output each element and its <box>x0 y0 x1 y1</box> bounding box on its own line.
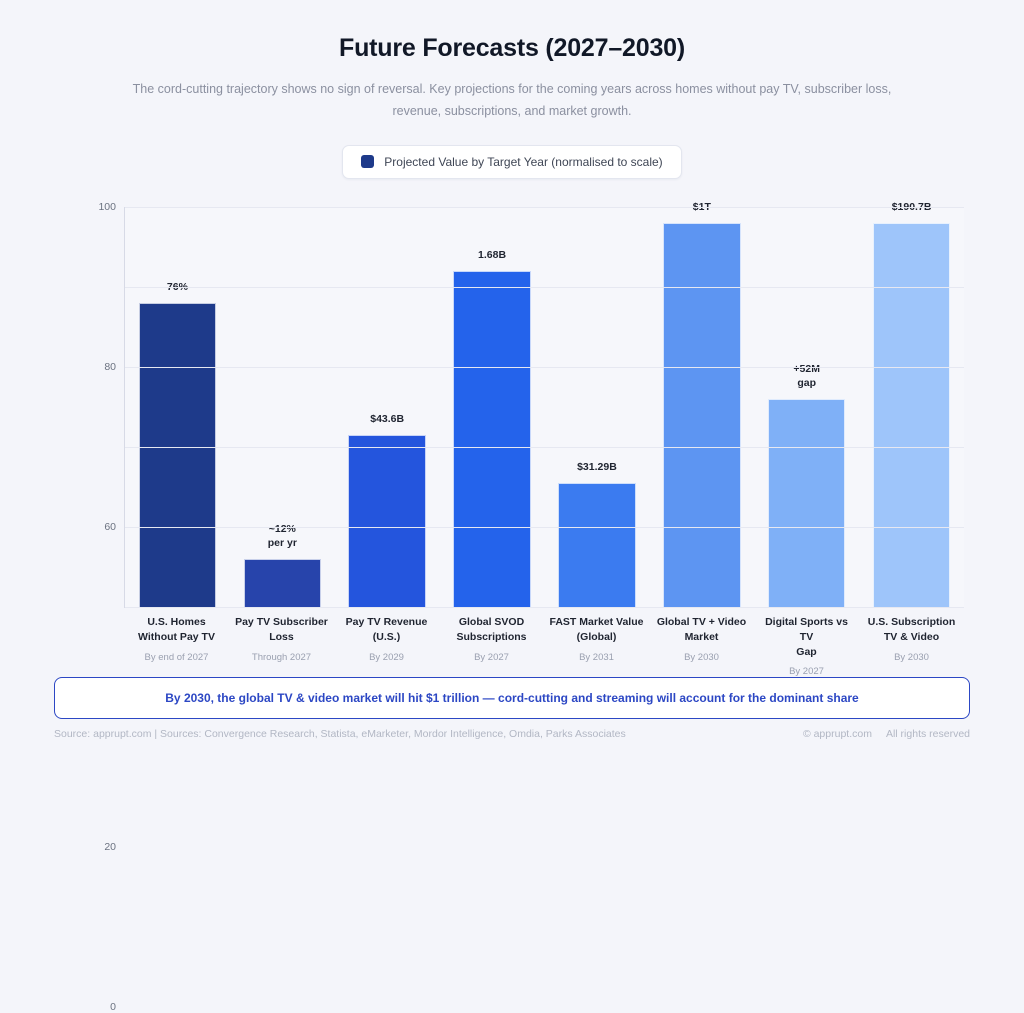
y-axis-tick: 60 <box>104 521 116 533</box>
bar[interactable] <box>244 559 322 607</box>
bar-slot: ~12%per yr <box>230 207 335 607</box>
legend-swatch-icon <box>361 155 374 168</box>
plot-grid: 76%~12%per yr$43.6B1.68B$31.29B$1T+52Mga… <box>124 207 964 608</box>
bar[interactable] <box>348 435 426 607</box>
bar-value-line: $31.29B <box>524 461 671 475</box>
y-gridline: 0 <box>125 607 964 608</box>
bar-value-line: $1T <box>628 201 775 215</box>
bar[interactable] <box>558 483 636 607</box>
y-gridline: 80 <box>125 287 964 288</box>
bar-value-label: 76% <box>104 281 251 295</box>
y-axis-tick: 20 <box>104 841 116 853</box>
bar-value-label: $1T <box>628 201 775 215</box>
x-axis-label-line: Global TV + Video <box>652 615 751 630</box>
x-axis-label-line: TV & Video <box>862 630 961 645</box>
x-axis-label-line: (U.S.) <box>337 630 436 645</box>
bar-value-label: $31.29B <box>524 461 671 475</box>
y-gridline: 100 <box>125 207 964 208</box>
bar-value-line: $190.7B <box>838 201 985 215</box>
bar-value-line: $43.6B <box>314 413 461 427</box>
x-axis-label: U.S. HomesWithout Pay TVBy end of 2027 <box>124 615 229 679</box>
x-axis-label-line: Loss <box>232 630 331 645</box>
x-axis-label-line: Gap <box>757 645 856 660</box>
bar-slot: $31.29B <box>545 207 650 607</box>
x-axis-label: Global TV + VideoMarketBy 2030 <box>649 615 754 679</box>
bar[interactable] <box>663 223 741 607</box>
x-axis-sublabel: By 2030 <box>862 652 961 664</box>
bar[interactable] <box>768 399 846 607</box>
x-axis-label-main: U.S. SubscriptionTV & Video <box>862 615 961 645</box>
bar-value-line: per yr <box>209 537 356 551</box>
chart-legend: Projected Value by Target Year (normalis… <box>0 145 1024 179</box>
y-axis-tick: 80 <box>104 361 116 373</box>
x-axis-label: Digital Sports vs TVGapBy 2027 <box>754 615 859 679</box>
bar-slot: 1.68B <box>440 207 545 607</box>
forecast-chart-page: Future Forecasts (2027–2030) The cord-cu… <box>0 0 1024 801</box>
x-axis-label-main: Global SVODSubscriptions <box>442 615 541 645</box>
x-axis-label-line: (Global) <box>547 630 646 645</box>
x-axis-label-line: Without Pay TV <box>127 630 226 645</box>
bar-slot: $43.6B <box>335 207 440 607</box>
plot-area: Projected Value (Normalised Scale 0–100)… <box>52 199 972 679</box>
bar-value-line: +52M <box>733 363 880 377</box>
x-axis-label-line: Subscriptions <box>442 630 541 645</box>
legend-label: Projected Value by Target Year (normalis… <box>384 155 662 169</box>
x-axis-sublabel: By 2030 <box>652 652 751 664</box>
x-axis-label: U.S. SubscriptionTV & VideoBy 2030 <box>859 615 964 679</box>
x-axis-sublabel: By end of 2027 <box>127 652 226 664</box>
callout-banner: By 2030, the global TV & video market wi… <box>54 677 970 719</box>
x-axis-sublabel: Through 2027 <box>232 652 331 664</box>
x-axis-label-line: Digital Sports vs TV <box>757 615 856 645</box>
x-axis-label-main: Pay TV Revenue(U.S.) <box>337 615 436 645</box>
x-axis-label-line: FAST Market Value <box>547 615 646 630</box>
bar-value-label: $43.6B <box>314 413 461 427</box>
y-axis-tick: 0 <box>110 1001 116 1013</box>
x-axis-sublabel: By 2029 <box>337 652 436 664</box>
x-axis-label-line: U.S. Homes <box>127 615 226 630</box>
bar-value-line: 76% <box>104 281 251 295</box>
bar-group: 76%~12%per yr$43.6B1.68B$31.29B$1T+52Mga… <box>125 207 964 607</box>
bar-value-line: gap <box>733 377 880 391</box>
bar[interactable] <box>139 303 217 607</box>
footer-source: Source: apprupt.com | Sources: Convergen… <box>54 728 626 740</box>
bar-value-line: ~12% <box>209 523 356 537</box>
bar[interactable] <box>453 271 531 607</box>
bar[interactable] <box>873 223 951 607</box>
y-axis-tick: 100 <box>98 201 116 213</box>
x-axis-label-line: Global SVOD <box>442 615 541 630</box>
page-footer: Source: apprupt.com | Sources: Convergen… <box>54 728 970 740</box>
x-axis-label-line: Market <box>652 630 751 645</box>
page-title: Future Forecasts (2027–2030) <box>100 34 924 63</box>
x-axis-sublabel: By 2031 <box>547 652 646 664</box>
bar-slot: $1T <box>649 207 754 607</box>
y-gridline: 40 <box>125 447 964 448</box>
footer-all-rights: All rights reserved <box>886 728 970 740</box>
footer-copyright: © apprupt.com <box>803 728 872 740</box>
footer-rights: © apprupt.com All rights reserved <box>803 728 970 740</box>
chart-subtitle: The cord-cutting trajectory shows no sig… <box>117 79 907 123</box>
legend-item[interactable]: Projected Value by Target Year (normalis… <box>342 145 681 179</box>
x-axis-label: Pay TV Revenue(U.S.)By 2029 <box>334 615 439 679</box>
x-axis-label-main: U.S. HomesWithout Pay TV <box>127 615 226 645</box>
x-axis-label: FAST Market Value(Global)By 2031 <box>544 615 649 679</box>
bar-slot: $190.7B <box>859 207 964 607</box>
x-axis-label: Global SVODSubscriptionsBy 2027 <box>439 615 544 679</box>
x-axis-sublabel: By 2027 <box>442 652 541 664</box>
x-axis-label-main: Pay TV SubscriberLoss <box>232 615 331 645</box>
x-axis-label: Pay TV SubscriberLossThrough 2027 <box>229 615 334 679</box>
y-gridline: 20 <box>125 527 964 528</box>
callout-text: By 2030, the global TV & video market wi… <box>165 691 858 705</box>
x-axis-label-line: Pay TV Revenue <box>337 615 436 630</box>
x-axis-label-line: Pay TV Subscriber <box>232 615 331 630</box>
bar-slot: +52Mgap <box>754 207 859 607</box>
bar-value-label: $190.7B <box>838 201 985 215</box>
y-gridline: 60 <box>125 367 964 368</box>
bar-value-label: 1.68B <box>419 249 566 263</box>
x-axis-label-main: Global TV + VideoMarket <box>652 615 751 645</box>
x-axis-label-main: Digital Sports vs TVGap <box>757 615 856 660</box>
x-axis-label-main: FAST Market Value(Global) <box>547 615 646 645</box>
x-axis-labels: U.S. HomesWithout Pay TVBy end of 2027Pa… <box>124 615 964 679</box>
bar-value-line: 1.68B <box>419 249 566 263</box>
chart-header: Future Forecasts (2027–2030) The cord-cu… <box>0 0 1024 123</box>
x-axis-label-line: U.S. Subscription <box>862 615 961 630</box>
